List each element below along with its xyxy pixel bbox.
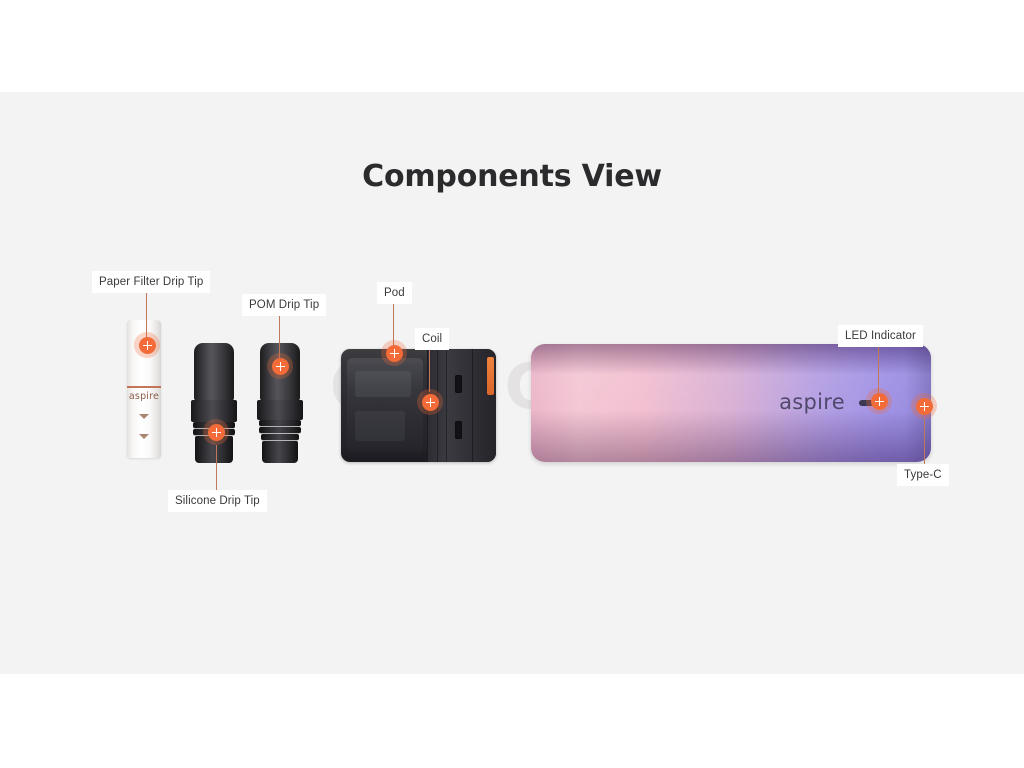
chevron-down-icon	[139, 434, 149, 439]
pod-orange-tab	[487, 357, 494, 395]
callout-coil[interactable]: Coil	[415, 328, 449, 350]
pom-tip-rib	[259, 420, 301, 426]
hotspot-silicone-drip-tip[interactable]	[203, 419, 229, 445]
diagram-stage: OKE.CZ Components View aspire Paper Filt…	[0, 0, 1024, 768]
pom-tip-rib	[261, 434, 299, 440]
page-title: Components View	[0, 159, 1024, 194]
pom-tip-body	[257, 400, 303, 420]
hotspot-pod[interactable]	[381, 340, 407, 366]
callout-led-indicator[interactable]: LED Indicator	[838, 325, 923, 347]
hotspot-type-c[interactable]	[911, 393, 937, 419]
silicone-tip-mouthpiece	[194, 343, 234, 401]
paper-tip-band	[127, 386, 161, 388]
plus-icon	[208, 424, 225, 441]
plus-icon	[386, 345, 403, 362]
pom-tip-base	[262, 441, 298, 463]
leader-line-led-indicator	[878, 344, 879, 394]
pod-airflow-slot	[455, 421, 462, 439]
leader-line-type-c	[924, 419, 925, 465]
plus-icon	[871, 393, 888, 410]
plus-icon	[272, 358, 289, 375]
hotspot-pom-drip-tip[interactable]	[267, 353, 293, 379]
device-brand-label: aspire	[779, 390, 845, 414]
pod-inner-detail	[355, 371, 411, 397]
pod-inner-detail	[355, 411, 405, 441]
hotspot-paper-filter-drip-tip[interactable]	[134, 332, 160, 358]
hotspot-led-indicator[interactable]	[866, 388, 892, 414]
pod-seam	[472, 349, 473, 462]
plus-icon	[422, 394, 439, 411]
plus-icon	[139, 337, 156, 354]
callout-silicone-drip-tip[interactable]: Silicone Drip Tip	[168, 490, 267, 512]
callout-paper-filter-drip-tip[interactable]: Paper Filter Drip Tip	[92, 271, 210, 293]
hotspot-coil[interactable]	[417, 389, 443, 415]
callout-pod[interactable]: Pod	[377, 282, 412, 304]
part-silicone-drip-tip[interactable]	[191, 343, 237, 463]
paper-tip-brand-label: aspire	[127, 391, 161, 402]
pod-seam	[446, 349, 447, 462]
leader-line-silicone-drip-tip	[216, 445, 217, 490]
callout-pom-drip-tip[interactable]: POM Drip Tip	[242, 294, 326, 316]
pom-tip-rib	[259, 427, 301, 433]
callout-type-c[interactable]: Type-C	[897, 464, 949, 486]
plus-icon	[916, 398, 933, 415]
chevron-down-icon	[139, 414, 149, 419]
pod-airflow-slot	[455, 375, 462, 393]
leader-line-coil	[429, 347, 430, 392]
